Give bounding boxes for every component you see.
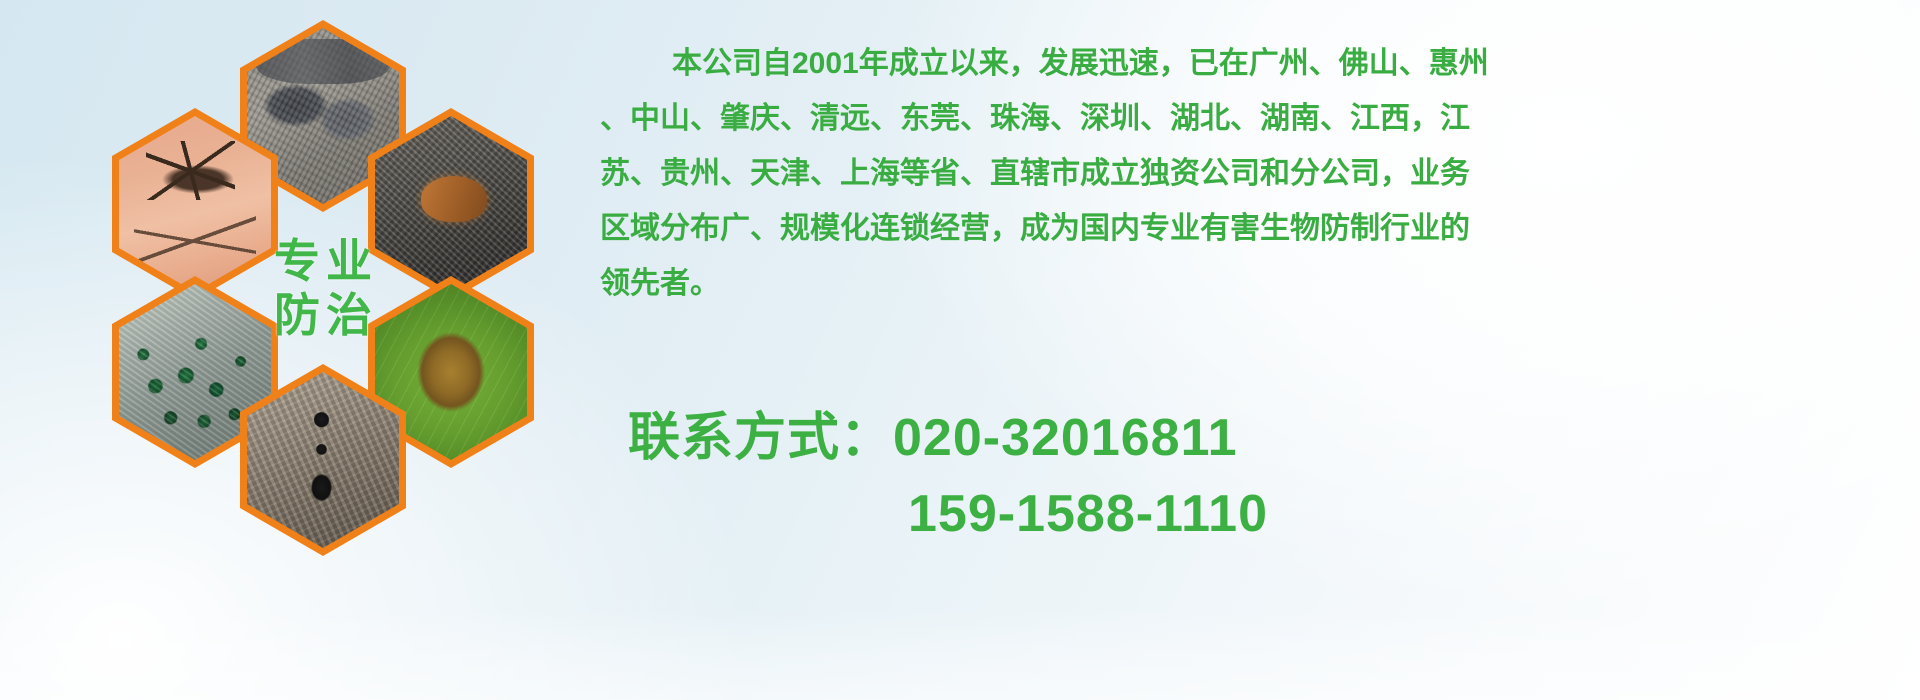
badge-line-1: 专业 [268, 237, 378, 285]
intro-line-5: 领先者。 [600, 256, 1900, 311]
contact-block: 联系方式：020-32016811 159-1588-1110 [600, 400, 1900, 552]
contact-phone-secondary[interactable]: 159-1588-1110 [600, 476, 1900, 552]
badge-line-2: 防治 [268, 291, 378, 339]
hexagon-photo-cluster: 专业 防治 [90, 8, 590, 588]
contact-phone-primary[interactable]: 联系方式：020-32016811 [600, 400, 1900, 476]
intro-line-2: 、中山、肇庆、清远、东莞、珠海、深圳、湖北、湖南、江西，江 [600, 91, 1900, 146]
pest-control-banner: 专业 防治 本公司自2001年成立以来，发展迅速，已在广州、佛山、惠州 、中山、… [0, 0, 1920, 700]
badge-professional-control: 专业 防治 [240, 192, 406, 384]
intro-line-4: 区域分布广、规模化连锁经营，成为国内专业有害生物防制行业的 [600, 201, 1900, 256]
intro-line-3: 苏、贵州、天津、上海等省、直辖市成立独资公司和分公司，业务 [600, 146, 1900, 201]
company-intro-paragraph: 本公司自2001年成立以来，发展迅速，已在广州、佛山、惠州 、中山、肇庆、清远、… [600, 36, 1900, 311]
intro-line-1: 本公司自2001年成立以来，发展迅速，已在广州、佛山、惠州 [600, 36, 1900, 91]
company-intro-block: 本公司自2001年成立以来，发展迅速，已在广州、佛山、惠州 、中山、肇庆、清远、… [600, 36, 1900, 311]
hex-photo-ant-inner [247, 372, 399, 548]
ant-photo-icon [247, 372, 399, 548]
